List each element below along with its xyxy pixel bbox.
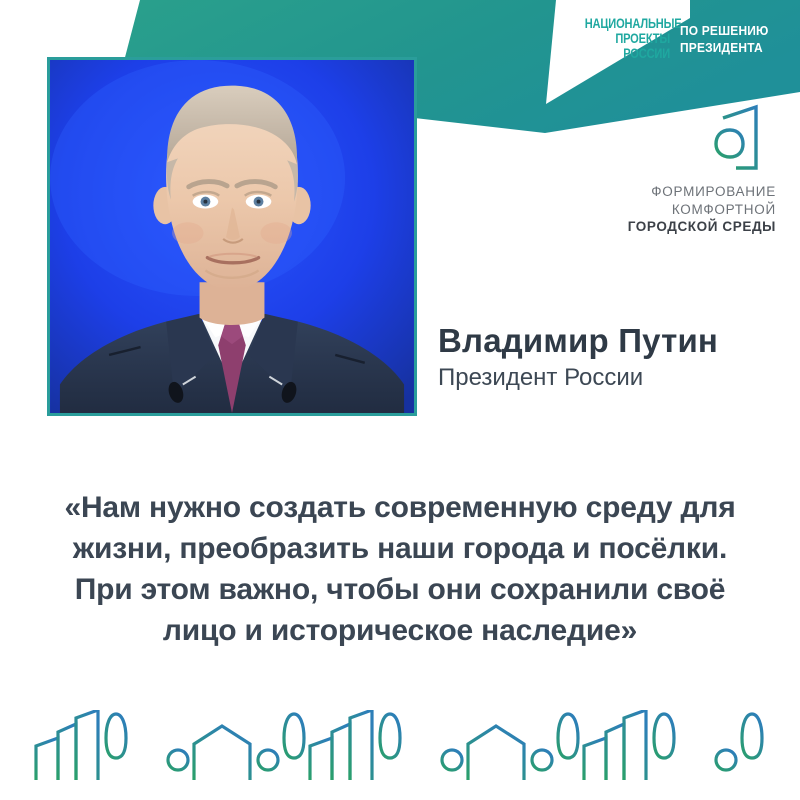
presidential-decision-line-1: ПО РЕШЕНИЮ xyxy=(680,22,789,39)
by-presidential-decision: ПО РЕШЕНИЮ ПРЕЗИДЕНТА xyxy=(680,22,798,56)
env-logo-text: ФОРМИРОВАНИЕ КОМФОРТНОЙ ГОРОДСКОЙ СРЕДЫ xyxy=(628,183,776,236)
quote-block: «Нам нужно создать современную среду для… xyxy=(40,487,760,651)
comfortable-urban-environment-logo: ФОРМИРОВАНИЕ КОМФОРТНОЙ ГОРОДСКОЙ СРЕДЫ xyxy=(628,104,776,236)
np-logo-line-2: ПРОЕКТЫ xyxy=(585,31,670,46)
quote-line-2: жизни, преобразить наши города и посёлки… xyxy=(40,528,760,569)
portrait-photo xyxy=(47,57,417,416)
city-skyline-decoration xyxy=(30,710,770,782)
np-logo-line-1: НАЦИОНАЛЬНЫЕ xyxy=(585,16,670,31)
portrait-illustration xyxy=(50,60,414,413)
quote-line-1: «Нам нужно создать современную среду для xyxy=(40,487,760,528)
quote-line-3: При этом важно, чтобы они сохранили своё xyxy=(40,569,760,610)
env-logo-line-3: ГОРОДСКОЙ СРЕДЫ xyxy=(628,218,776,236)
person-title: Президент России xyxy=(438,363,718,393)
person-full-name: Владимир Путин xyxy=(438,322,718,360)
env-logo-line-1: ФОРМИРОВАНИЕ xyxy=(628,183,776,201)
sprout-in-frame-icon xyxy=(706,104,762,174)
np-logo-line-3: РОССИИ xyxy=(585,46,670,61)
national-projects-logo: НАЦИОНАЛЬНЫЕ ПРОЕКТЫ РОССИИ xyxy=(566,16,670,61)
person-name-block: Владимир Путин Президент России xyxy=(438,322,718,393)
poster-canvas: НАЦИОНАЛЬНЫЕ ПРОЕКТЫ РОССИИ ПО РЕШЕНИЮ П… xyxy=(0,0,800,800)
quote-line-4: лицо и историческое наследие» xyxy=(40,610,760,651)
presidential-decision-line-2: ПРЕЗИДЕНТА xyxy=(680,39,789,56)
env-logo-line-2: КОМФОРТНОЙ xyxy=(628,201,776,219)
